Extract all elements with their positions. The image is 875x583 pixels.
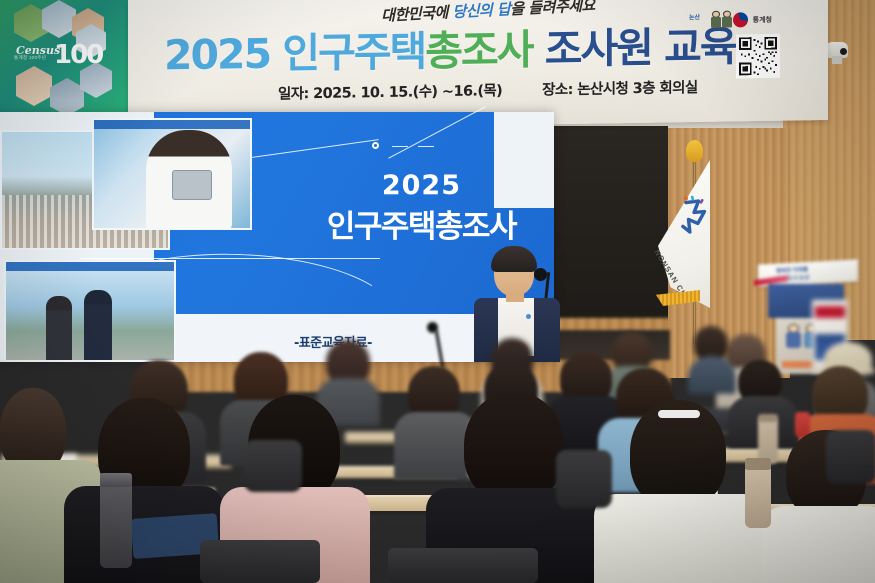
census-mascot-logo <box>711 11 732 28</box>
census-anniversary-number: 100 <box>54 40 102 70</box>
two-people-walking-photo <box>4 260 176 362</box>
taeguk-icon <box>733 12 748 27</box>
slide-dash <box>418 146 434 147</box>
headline-navy: 조사원 교육 <box>532 22 735 73</box>
audience-member <box>690 326 734 386</box>
projection-screen: ✦ ✦ ✦ 2025 인구주택총조사 -표준교육자료- <box>0 112 554 362</box>
thermos-cap <box>758 414 778 422</box>
headline-year: 2025 <box>164 30 282 80</box>
slide-main-title: 인구주택총조사 <box>327 201 516 246</box>
census-subtext: 통계청 100주년 <box>14 55 46 61</box>
mascot-figure <box>711 11 721 28</box>
water-bottle-cap <box>100 473 132 487</box>
headline-blue: 인구주택 <box>282 27 425 77</box>
speaker-hair <box>491 246 537 272</box>
lapel-pin <box>526 314 531 319</box>
thermos <box>745 466 771 528</box>
slide-year: 2025 <box>327 170 516 201</box>
chair <box>244 440 302 492</box>
qr-code <box>736 34 780 79</box>
chair <box>200 540 320 583</box>
banner-date: 일자: 2025. 10. 15.(수) ~16.(목) <box>278 79 502 104</box>
slide-dash <box>392 146 408 147</box>
standee-red-band <box>815 306 845 318</box>
flag-finial <box>686 140 703 162</box>
water-bottle <box>100 482 132 568</box>
thermos-cap <box>745 458 771 470</box>
chair <box>388 548 538 583</box>
microphone-head <box>427 322 438 333</box>
chair <box>826 430 875 484</box>
poster-photo-hex <box>50 78 84 116</box>
banner-headline: 2025 인구주택총조사 조사원 교육 <box>164 11 804 81</box>
slide-title-block: 2025 인구주택총조사 <box>327 170 516 246</box>
podium-top-panel: 행복한 미래를 여는 도시 논산 <box>758 259 858 286</box>
headline-green: 총조사 <box>425 26 532 76</box>
conference-room-photo: Census 통계청 100주년 100 대한민국에 당신의 답을 들려주세요 … <box>0 0 875 583</box>
slide-line <box>80 258 380 259</box>
banner-subline: 일자: 2025. 10. 15.(수) ~16.(목) 장소: 논산시청 3층… <box>278 76 718 104</box>
security-camera-lens <box>840 48 847 55</box>
statistics-korea-label: 통계청 <box>753 14 772 24</box>
woman-with-tablet-photo <box>92 118 252 230</box>
hair-clip <box>658 410 700 418</box>
poster-photo-hex <box>16 66 52 106</box>
census-100-poster: Census 통계청 100주년 100 <box>0 0 128 112</box>
qr-code-graphic <box>739 37 777 76</box>
dark-wall-panel <box>548 126 668 341</box>
slide-dot <box>372 142 379 149</box>
mascot-figure <box>722 11 732 28</box>
banner-place: 장소: 논산시청 3층 회의실 <box>542 76 697 99</box>
security-camera-mount <box>832 56 842 64</box>
nonsan-logo-small: 논산 <box>689 15 700 22</box>
chair <box>556 450 612 508</box>
audience-member <box>600 400 750 583</box>
statistics-korea-logo: 통계청 <box>733 12 772 28</box>
mascot-figure <box>786 324 801 348</box>
